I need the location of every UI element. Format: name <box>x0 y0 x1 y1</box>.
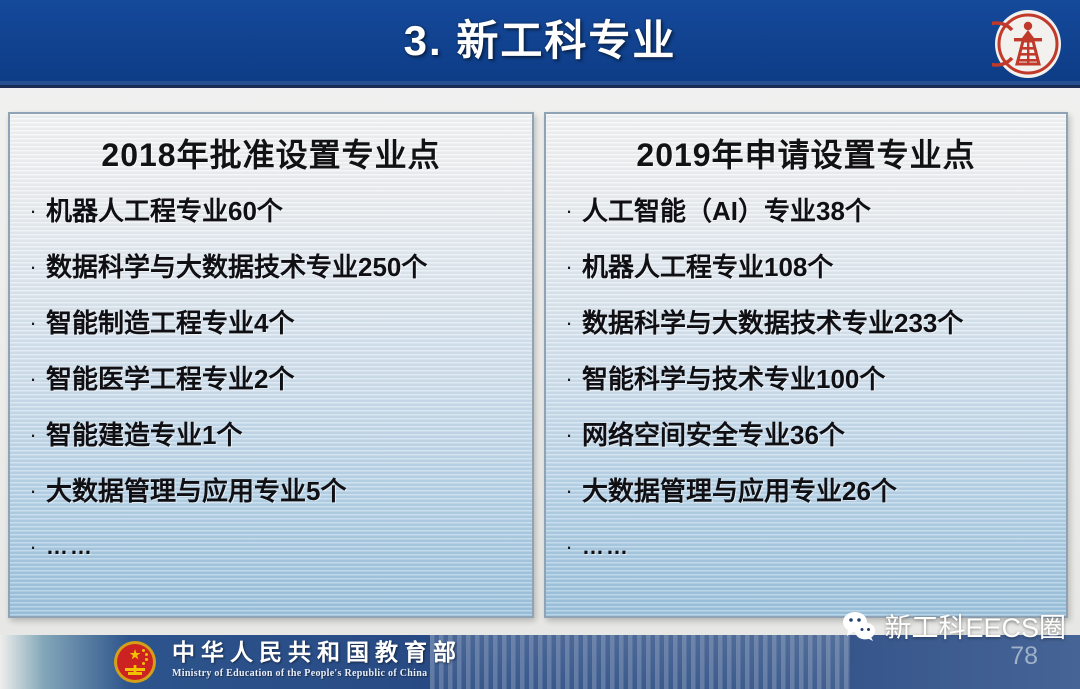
panel-2018: 2018年批准设置专业点 · 机器人工程专业60个 · 数据科学与大数据技术专业… <box>8 112 534 618</box>
list-item-label: 大数据管理与应用专业26个 <box>582 474 1056 508</box>
slide-header-banner: 3. 新工科专业 <box>0 0 1080 88</box>
list-item: · 智能建造专业1个 <box>20 418 522 454</box>
bullet-dot-icon: · <box>20 250 46 284</box>
ministry-name-en: Ministry of Education of the People's Re… <box>172 667 462 681</box>
bullet-dot-icon: · <box>20 474 46 508</box>
list-item-label: 智能制造工程专业4个 <box>46 306 522 340</box>
bullet-dot-icon: · <box>556 418 582 452</box>
list-item-label: 机器人工程专业108个 <box>582 250 1056 284</box>
list-item-label: …… <box>46 530 522 564</box>
page-number: 78 <box>1010 642 1038 671</box>
bullet-dot-icon: · <box>20 418 46 452</box>
list-item-label: 数据科学与大数据技术专业233个 <box>582 306 1056 340</box>
list-item: · 智能制造工程专业4个 <box>20 306 522 342</box>
presentation-slide: 3. 新工科专业 2018年批准设置专业点 · <box>0 0 1080 689</box>
bullet-dot-icon: · <box>556 306 582 340</box>
china-national-emblem-icon <box>112 639 158 685</box>
panel-title-2019: 2019年申请设置专业点 <box>556 130 1056 176</box>
bullet-dot-icon: · <box>556 530 582 564</box>
list-item-label: …… <box>582 530 1056 564</box>
bullet-dot-icon: · <box>556 362 582 396</box>
list-item: · 网络空间安全专业36个 <box>556 418 1056 454</box>
list-item: · 机器人工程专业108个 <box>556 250 1056 286</box>
bullet-list-2018: · 机器人工程专业60个 · 数据科学与大数据技术专业250个 · 智能制造工程… <box>20 194 522 566</box>
panel-2019: 2019年申请设置专业点 · 人工智能（AI）专业38个 · 机器人工程专业10… <box>544 112 1068 618</box>
list-item-label: 人工智能（AI）专业38个 <box>582 194 1056 228</box>
list-item: · 机器人工程专业60个 <box>20 194 522 230</box>
list-item-label: 机器人工程专业60个 <box>46 194 522 228</box>
list-item: · 大数据管理与应用专业5个 <box>20 474 522 510</box>
list-item-label: 智能医学工程专业2个 <box>46 362 522 396</box>
list-item: · 智能医学工程专业2个 <box>20 362 522 398</box>
list-item: · …… <box>20 530 522 566</box>
list-item-label: 数据科学与大数据技术专业250个 <box>46 250 522 284</box>
list-item: · 人工智能（AI）专业38个 <box>556 194 1056 230</box>
bullet-dot-icon: · <box>556 194 582 228</box>
panel-title-2018: 2018年批准设置专业点 <box>20 130 522 176</box>
watermark-label: 新工科EECS圈 <box>884 606 1066 645</box>
list-item-label: 智能建造专业1个 <box>46 418 522 452</box>
list-item-label: 大数据管理与应用专业5个 <box>46 474 522 508</box>
university-tower-emblem-icon <box>992 8 1064 80</box>
bullet-dot-icon: · <box>20 306 46 340</box>
list-item: · …… <box>556 530 1056 566</box>
bullet-dot-icon: · <box>20 530 46 564</box>
ministry-name-block: 中华人民共和国教育部 Ministry of Education of the … <box>172 639 462 681</box>
list-item: · 大数据管理与应用专业26个 <box>556 474 1056 510</box>
bullet-dot-icon: · <box>556 474 582 508</box>
list-item-label: 智能科学与技术专业100个 <box>582 362 1056 396</box>
ministry-name-cn: 中华人民共和国教育部 <box>172 639 462 667</box>
list-item: · 数据科学与大数据技术专业233个 <box>556 306 1056 342</box>
list-item-label: 网络空间安全专业36个 <box>582 418 1056 452</box>
ministry-building-photo <box>430 635 850 689</box>
slide-title: 3. 新工科专业 <box>0 8 1080 74</box>
list-item: · 数据科学与大数据技术专业250个 <box>20 250 522 286</box>
list-item: · 智能科学与技术专业100个 <box>556 362 1056 398</box>
bullet-dot-icon: · <box>556 250 582 284</box>
wechat-icon <box>842 611 876 641</box>
bullet-dot-icon: · <box>20 194 46 228</box>
wechat-watermark: 新工科EECS圈 <box>842 606 1066 645</box>
bullet-dot-icon: · <box>20 362 46 396</box>
bullet-list-2019: · 人工智能（AI）专业38个 · 机器人工程专业108个 · 数据科学与大数据… <box>556 194 1056 566</box>
